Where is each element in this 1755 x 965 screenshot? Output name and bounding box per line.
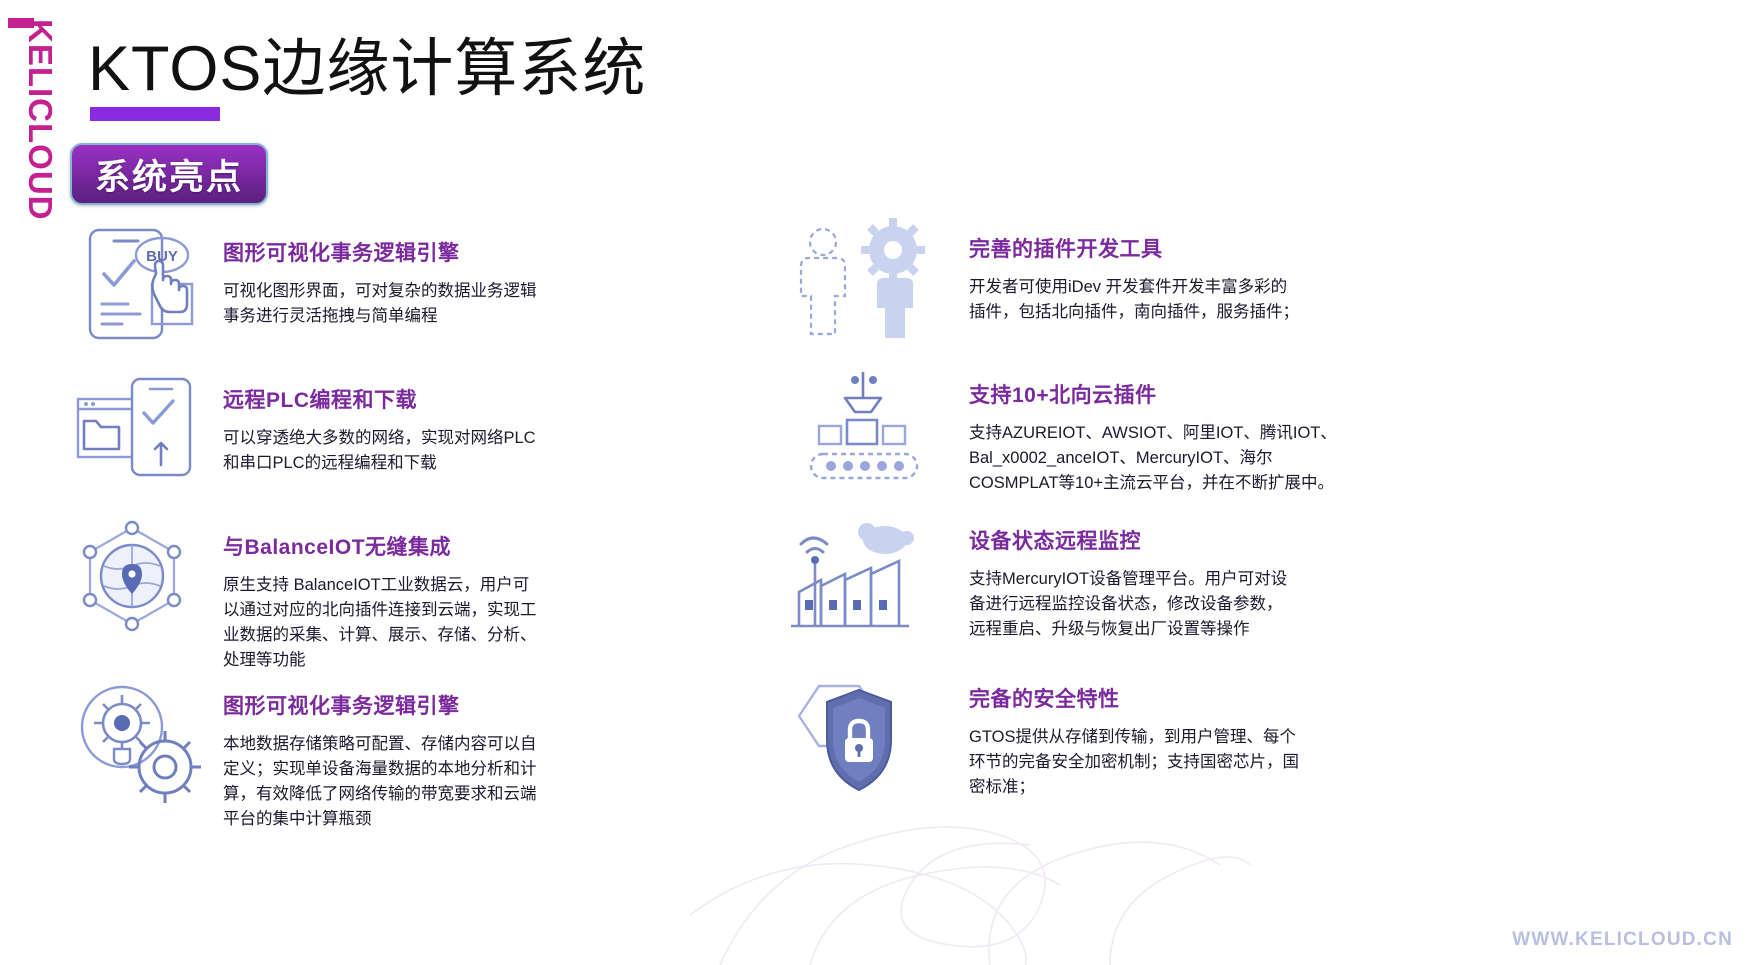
feature-title: 图形可视化事务逻辑引擎 xyxy=(223,242,690,265)
section-badge-label: 系统亮点 xyxy=(95,149,243,200)
watermark: WWW.KELICLOUD.CN xyxy=(1512,929,1733,951)
feature-item: BUY 图形可视化事务逻辑引擎 可视化图形界面，可对复杂的数据业务逻辑 事务进行… xyxy=(70,222,690,350)
feature-body: 完备的安全特性 GTOS提供从存储到传输，到用户管理、每个 环节的完备安全加密机… xyxy=(969,672,1465,800)
feature-description: 支持MercuryIOT设备管理平台。用户可对设 备进行远程监控设备状态，修改设… xyxy=(969,567,1465,642)
feature-description: 可视化图形界面，可对复杂的数据业务逻辑 事务进行灵活拖拽与简单编程 xyxy=(223,279,690,329)
mobile-checkout-buy-icon: BUY xyxy=(70,222,205,347)
feature-item: 完善的插件开发工具 开发者可使用iDev 开发套件开发丰富多彩的 插件，包括北向… xyxy=(785,222,1465,350)
feature-description: 原生支持 BalanceIOT工业数据云，用户可 以通过对应的北向插件连接到云端… xyxy=(223,573,690,673)
feature-title: 完备的安全特性 xyxy=(969,688,1465,711)
global-network-location-icon xyxy=(70,516,205,641)
feature-description: 本地数据存储策略可配置、存储内容可以自 定义；实现单设备海量数据的本地分析和计 … xyxy=(223,732,690,832)
shield-lock-icon xyxy=(785,672,945,797)
feature-title: 设备状态远程监控 xyxy=(969,530,1465,553)
feature-body: 图形可视化事务逻辑引擎 可视化图形界面，可对复杂的数据业务逻辑 事务进行灵活拖拽… xyxy=(223,222,690,329)
feature-body: 设备状态远程监控 支持MercuryIOT设备管理平台。用户可对设 备进行远程监… xyxy=(969,514,1465,642)
factory-antenna-cloud-icon xyxy=(785,514,945,639)
feature-item: 图形可视化事务逻辑引擎 本地数据存储策略可配置、存储内容可以自 定义；实现单设备… xyxy=(70,675,690,835)
feature-description: 开发者可使用iDev 开发套件开发丰富多彩的 插件，包括北向插件，南向插件，服务… xyxy=(969,275,1465,325)
person-gear-icon xyxy=(785,222,945,347)
feature-body: 图形可视化事务逻辑引擎 本地数据存储策略可配置、存储内容可以自 定义；实现单设备… xyxy=(223,675,690,832)
feature-item: 完备的安全特性 GTOS提供从存储到传输，到用户管理、每个 环节的完备安全加密机… xyxy=(785,672,1465,832)
lightbulb-gear-icon xyxy=(70,675,205,800)
remote-file-transfer-icon xyxy=(70,369,205,494)
title-underline xyxy=(90,107,220,121)
features-right-column: 完善的插件开发工具 开发者可使用iDev 开发套件开发丰富多彩的 插件，包括北向… xyxy=(785,222,1465,850)
feature-item: 远程PLC编程和下载 可以穿透绝大多数的网络，实现对网络PLC 和串口PLC的远… xyxy=(70,369,690,497)
brand-name: KELICLOUD xyxy=(21,19,59,279)
feature-body: 支持10+北向云插件 支持AZUREIOT、AWSIOT、阿里IOT、腾讯IOT… xyxy=(969,368,1465,496)
section-badge: 系统亮点 xyxy=(70,143,268,205)
feature-body: 完善的插件开发工具 开发者可使用iDev 开发套件开发丰富多彩的 插件，包括北向… xyxy=(969,222,1465,325)
page-title: KTOS边缘计算系统 xyxy=(88,18,646,109)
feature-item: 与BalanceIOT无缝集成 原生支持 BalanceIOT工业数据云，用户可… xyxy=(70,516,690,656)
feature-description: 支持AZUREIOT、AWSIOT、阿里IOT、腾讯IOT、 Bal_x0002… xyxy=(969,421,1465,496)
feature-description: 可以穿透绝大多数的网络，实现对网络PLC 和串口PLC的远程编程和下载 xyxy=(223,426,690,476)
feature-title: 完善的插件开发工具 xyxy=(969,238,1465,261)
feature-description: GTOS提供从存储到传输，到用户管理、每个 环节的完备安全加密机制；支持国密芯片… xyxy=(969,725,1465,800)
feature-body: 远程PLC编程和下载 可以穿透绝大多数的网络，实现对网络PLC 和串口PLC的远… xyxy=(223,369,690,476)
feature-body: 与BalanceIOT无缝集成 原生支持 BalanceIOT工业数据云，用户可… xyxy=(223,516,690,673)
feature-item: 设备状态远程监控 支持MercuryIOT设备管理平台。用户可对设 备进行远程监… xyxy=(785,514,1465,654)
feature-title: 与BalanceIOT无缝集成 xyxy=(223,536,690,559)
feature-item: 支持10+北向云插件 支持AZUREIOT、AWSIOT、阿里IOT、腾讯IOT… xyxy=(785,368,1465,496)
feature-title: 远程PLC编程和下载 xyxy=(223,389,690,412)
brand-rail: KELICLOUD xyxy=(0,10,52,310)
features-left-column: BUY 图形可视化事务逻辑引擎 可视化图形界面，可对复杂的数据业务逻辑 事务进行… xyxy=(70,222,690,854)
feature-title: 图形可视化事务逻辑引擎 xyxy=(223,695,690,718)
conveyor-assembly-icon xyxy=(785,368,945,493)
feature-title: 支持10+北向云插件 xyxy=(969,384,1465,407)
